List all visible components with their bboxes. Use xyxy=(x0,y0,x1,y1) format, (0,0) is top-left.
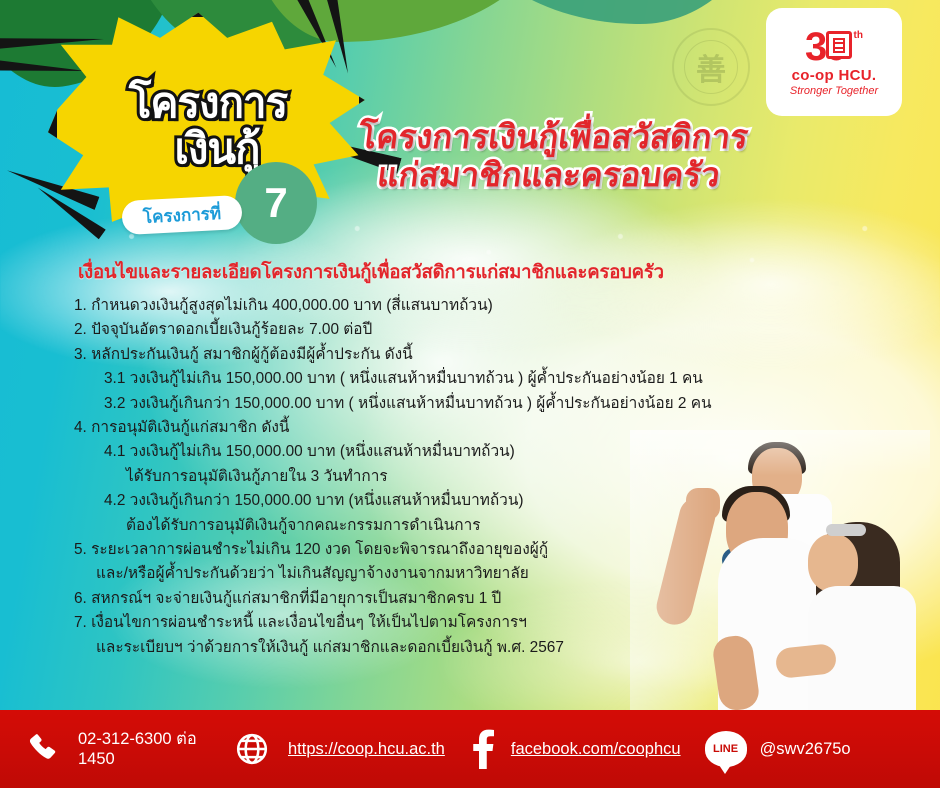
condition-item: 5. ระยะเวลาการผ่อนชำระไม่เกิน 120 งวด โด… xyxy=(74,542,800,557)
condition-item: และ/หรือผู้ค้ำประกันด้วยว่า ไม่เกินสัญญา… xyxy=(96,566,800,581)
line-icon: LINE xyxy=(705,731,747,767)
details-subtitle: เงื่อนไขและรายละเอียดโครงการเงินกู้เพื่อ… xyxy=(78,258,800,287)
contact-line[interactable]: LINE @swv2675o xyxy=(705,731,851,767)
page-title-line2: แก่สมาชิกและครอบครัว xyxy=(291,156,806,194)
condition-item: 4. การอนุมัติเงินกู้แก่สมาชิก ดังนี้ xyxy=(74,420,800,435)
logo-ordinal: th xyxy=(854,30,863,41)
contact-website[interactable]: https://coop.hcu.ac.th xyxy=(234,731,445,767)
condition-item: 3. หลักประกันเงินกู้ สมาชิกผู้กู้ต้องมีผ… xyxy=(74,347,800,362)
project-number-label-pill: โครงการที่ xyxy=(121,195,243,235)
website-url[interactable]: https://coop.hcu.ac.th xyxy=(288,739,445,759)
page-title-line1: โครงการเงินกู้เพื่อสวัสดิการ xyxy=(296,118,811,156)
poster-root: โครงการ เงินกู้ 7 โครงการที่ โครงการเงิน… xyxy=(0,0,940,788)
logo-top-row: 30 th xyxy=(805,28,863,66)
logo-name: co-op HCU. xyxy=(792,67,877,84)
page-title: โครงการเงินกู้เพื่อสวัสดิการ แก่สมาชิกแล… xyxy=(291,118,810,195)
condition-item: ต้องได้รับการอนุมัติเงินกู้จากคณะกรรมการ… xyxy=(126,518,800,533)
logo-tagline: Stronger Together xyxy=(790,85,878,97)
seal-glyph: 善 xyxy=(674,45,748,89)
condition-item: 1. กำหนดวงเงินกู้สูงสุดไม่เกิน 400,000.0… xyxy=(74,298,800,313)
condition-item: 3.1 วงเงินกู้ไม่เกิน 150,000.00 บาท ( หน… xyxy=(104,371,800,386)
condition-item: 6. สหกรณ์ฯ จะจ่ายเงินกู้แก่สมาชิกที่มีอา… xyxy=(74,591,800,606)
project-number-label: โครงการที่ xyxy=(142,199,221,230)
phone-icon xyxy=(26,731,62,767)
mother-sunglasses-icon xyxy=(826,524,866,536)
line-badge: LINE xyxy=(705,731,747,767)
burst-title-line2: เงินกู้ xyxy=(174,127,259,171)
facebook-url[interactable]: facebook.com/coophcu xyxy=(511,739,681,759)
phone-number: 02-312-6300 ต่อ 1450 xyxy=(78,729,208,769)
condition-item: 4.1 วงเงินกู้ไม่เกิน 150,000.00 บาท (หนึ… xyxy=(104,444,800,459)
leaf-shape-teal xyxy=(460,0,760,24)
details-section: เงื่อนไขและรายละเอียดโครงการเงินกู้เพื่อ… xyxy=(0,258,800,664)
contact-phone[interactable]: 02-312-6300 ต่อ 1450 xyxy=(26,729,208,769)
logo-mark-icon xyxy=(826,31,852,59)
contact-facebook[interactable]: facebook.com/coophcu xyxy=(467,729,681,769)
condition-item: 2. ปัจจุบันอัตราดอกเบี้ยเงินกู้ร้อยละ 7.… xyxy=(74,322,800,337)
burst-title-line1: โครงการ xyxy=(129,81,287,125)
condition-item: 4.2 วงเงินกู้เกินกว่า 150,000.00 บาท (หน… xyxy=(104,493,800,508)
contact-footer: 02-312-6300 ต่อ 1450 https://coop.hcu.ac… xyxy=(0,710,940,788)
condition-item: 3.2 วงเงินกู้เกินกว่า 150,000.00 บาท ( ห… xyxy=(104,396,800,411)
condition-item: และระเบียบฯ ว่าด้วยการให้เงินกู้ แก่สมาช… xyxy=(96,640,800,655)
condition-item: 7. เงื่อนไขการผ่อนชำระหนี้ และเงื่อนไขอื… xyxy=(74,615,800,630)
line-id: @swv2675o xyxy=(760,739,851,759)
facebook-icon xyxy=(467,729,497,769)
anniversary-logo: 30 th co-op HCU. Stronger Together xyxy=(766,8,902,116)
globe-icon xyxy=(234,731,270,767)
project-number: 7 xyxy=(264,179,287,227)
university-seal-icon: 善 xyxy=(672,28,750,106)
mother-face xyxy=(808,534,858,592)
condition-item: ได้รับการอนุมัติเงินกู้ภายใน 3 วันทำการ xyxy=(126,469,800,484)
conditions-list: 1. กำหนดวงเงินกู้สูงสุดไม่เกิน 400,000.0… xyxy=(0,298,800,655)
